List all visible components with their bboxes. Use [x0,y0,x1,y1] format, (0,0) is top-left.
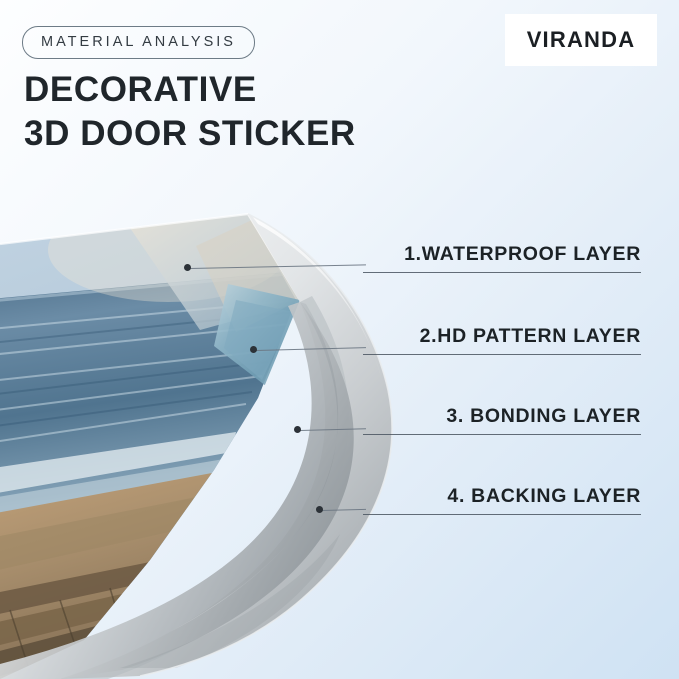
callout-dot-1 [184,264,191,271]
brand-name: VIRANDA [527,27,636,53]
callout-rule-1 [363,272,641,273]
callout-label-3: 3. BONDING LAYER [446,405,641,428]
callout-rule-3 [363,434,641,435]
callout-dot-4 [316,506,323,513]
callout-rule-2 [363,354,641,355]
callout-dot-2 [250,346,257,353]
brand-logo-box: VIRANDA [505,14,657,66]
title-line-2: 3D DOOR STICKER [24,112,356,156]
callout-rule-4 [363,514,641,515]
page-title: DECORATIVE 3D DOOR STICKER [24,68,356,156]
callout-dot-3 [294,426,301,433]
title-line-1: DECORATIVE [24,70,257,109]
poster-root: MATERIAL ANALYSIS DECORATIVE 3D DOOR STI… [0,0,679,679]
callout-label-2: 2.HD PATTERN LAYER [420,325,641,348]
callout-label-4: 4. BACKING LAYER [447,485,641,508]
eyebrow-badge: MATERIAL ANALYSIS [22,26,255,59]
callout-label-1: 1.WATERPROOF LAYER [404,243,641,266]
